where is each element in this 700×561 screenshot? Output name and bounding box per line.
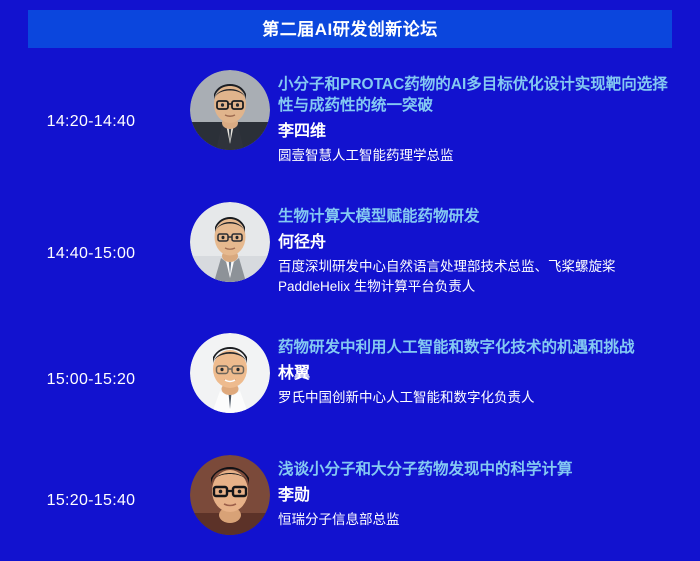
speaker-affiliation: 百度深圳研发中心自然语言处理部技术总监、飞桨螺旋桨 PaddleHelix 生物… xyxy=(278,257,674,297)
session-time: 14:20-14:40 xyxy=(0,56,182,188)
speaker-name: 何径舟 xyxy=(278,232,674,253)
speaker-name: 李勋 xyxy=(278,485,674,506)
session-title: 浅谈小分子和大分子药物发现中的科学计算 xyxy=(278,459,674,480)
avatar-container xyxy=(182,188,278,282)
affiliation-line: 圆壹智慧人工智能药理学总监 xyxy=(278,146,674,166)
agenda-session-row: 15:00-15:20 xyxy=(0,319,700,441)
session-details: 生物计算大模型赋能药物研发 何径舟 百度深圳研发中心自然语言处理部技术总监、飞桨… xyxy=(278,188,700,297)
speaker-name: 林翼 xyxy=(278,363,674,384)
affiliation-line: 恒瑞分子信息部总监 xyxy=(278,510,674,530)
agenda-session-row: 14:40-15:00 xyxy=(0,188,700,319)
session-time: 15:00-15:20 xyxy=(0,319,182,441)
session-title: 药物研发中利用人工智能和数字化技术的机遇和挑战 xyxy=(278,337,674,358)
affiliation-line: PaddleHelix 生物计算平台负责人 xyxy=(278,277,674,297)
agenda-session-row: 15:20-15:40 xyxy=(0,441,700,561)
avatar-container xyxy=(182,319,278,413)
session-details: 浅谈小分子和大分子药物发现中的科学计算 李勋 恒瑞分子信息部总监 xyxy=(278,441,700,530)
speaker-avatar xyxy=(190,202,270,282)
forum-agenda-poster: 第二届AI研发创新论坛 14:20-14:40 xyxy=(0,0,700,561)
affiliation-line: 罗氏中国创新中心人工智能和数字化负责人 xyxy=(278,388,674,408)
avatar-container xyxy=(182,441,278,535)
speaker-affiliation: 罗氏中国创新中心人工智能和数字化负责人 xyxy=(278,388,674,408)
speaker-avatar xyxy=(190,333,270,413)
speaker-affiliation: 圆壹智慧人工智能药理学总监 xyxy=(278,146,674,166)
session-title: 生物计算大模型赋能药物研发 xyxy=(278,206,674,227)
affiliation-line: 百度深圳研发中心自然语言处理部技术总监、飞桨螺旋桨 xyxy=(278,257,674,277)
agenda-session-row: 14:20-14:40 xyxy=(0,56,700,188)
speaker-avatar xyxy=(190,455,270,535)
avatar-container xyxy=(182,56,278,150)
session-details: 药物研发中利用人工智能和数字化技术的机遇和挑战 林翼 罗氏中国创新中心人工智能和… xyxy=(278,319,700,408)
header-banner: 第二届AI研发创新论坛 xyxy=(28,10,672,48)
agenda-list: 14:20-14:40 xyxy=(0,56,700,561)
speaker-avatar xyxy=(190,70,270,150)
session-details: 小分子和PROTAC药物的AI多目标优化设计实现靶向选择性与成药性的统一突破 李… xyxy=(278,56,700,166)
page-title: 第二届AI研发创新论坛 xyxy=(262,21,438,38)
speaker-affiliation: 恒瑞分子信息部总监 xyxy=(278,510,674,530)
speaker-name: 李四维 xyxy=(278,121,674,142)
session-title: 小分子和PROTAC药物的AI多目标优化设计实现靶向选择性与成药性的统一突破 xyxy=(278,74,674,116)
session-time: 14:40-15:00 xyxy=(0,188,182,319)
session-time: 15:20-15:40 xyxy=(0,441,182,561)
